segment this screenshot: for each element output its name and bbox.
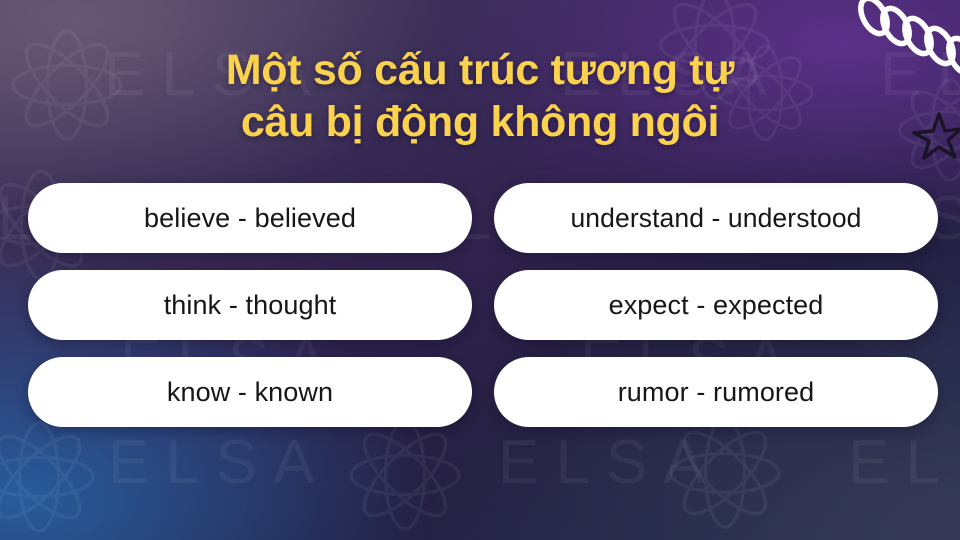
- verb-pair-grid: believe - believed understand - understo…: [28, 183, 938, 427]
- verb-pair-pill[interactable]: expect - expected: [494, 270, 938, 340]
- verb-pair-label: rumor - rumored: [618, 377, 815, 408]
- verb-pair-label: think - thought: [164, 290, 337, 321]
- watermark-text: ELSA: [498, 432, 721, 494]
- watermark-text: ELSA: [108, 432, 331, 494]
- verb-pair-pill[interactable]: believe - believed: [28, 183, 472, 253]
- verb-pair-pill[interactable]: rumor - rumored: [494, 357, 938, 427]
- verb-pair-label: expect - expected: [609, 290, 824, 321]
- verb-pair-label: understand - understood: [570, 203, 861, 234]
- verb-pair-label: believe - believed: [144, 203, 356, 234]
- title-line-1: Một số cấu trúc tương tự: [0, 44, 960, 96]
- title-line-2: câu bị động không ngôi: [0, 96, 960, 148]
- watermark-text: ELSA: [848, 432, 960, 494]
- verb-pair-pill[interactable]: know - known: [28, 357, 472, 427]
- verb-pair-pill[interactable]: think - thought: [28, 270, 472, 340]
- star-doodle-icon: [908, 108, 960, 164]
- verb-pair-label: know - known: [167, 377, 333, 408]
- slide-canvas: ELSA ELSA ELSA ELSA ELSA ELSA ELSA ELSA …: [0, 0, 960, 540]
- verb-pair-pill[interactable]: understand - understood: [494, 183, 938, 253]
- slide-title: Một số cấu trúc tương tự câu bị động khô…: [0, 44, 960, 149]
- spiral-doodle-icon: [848, 0, 960, 84]
